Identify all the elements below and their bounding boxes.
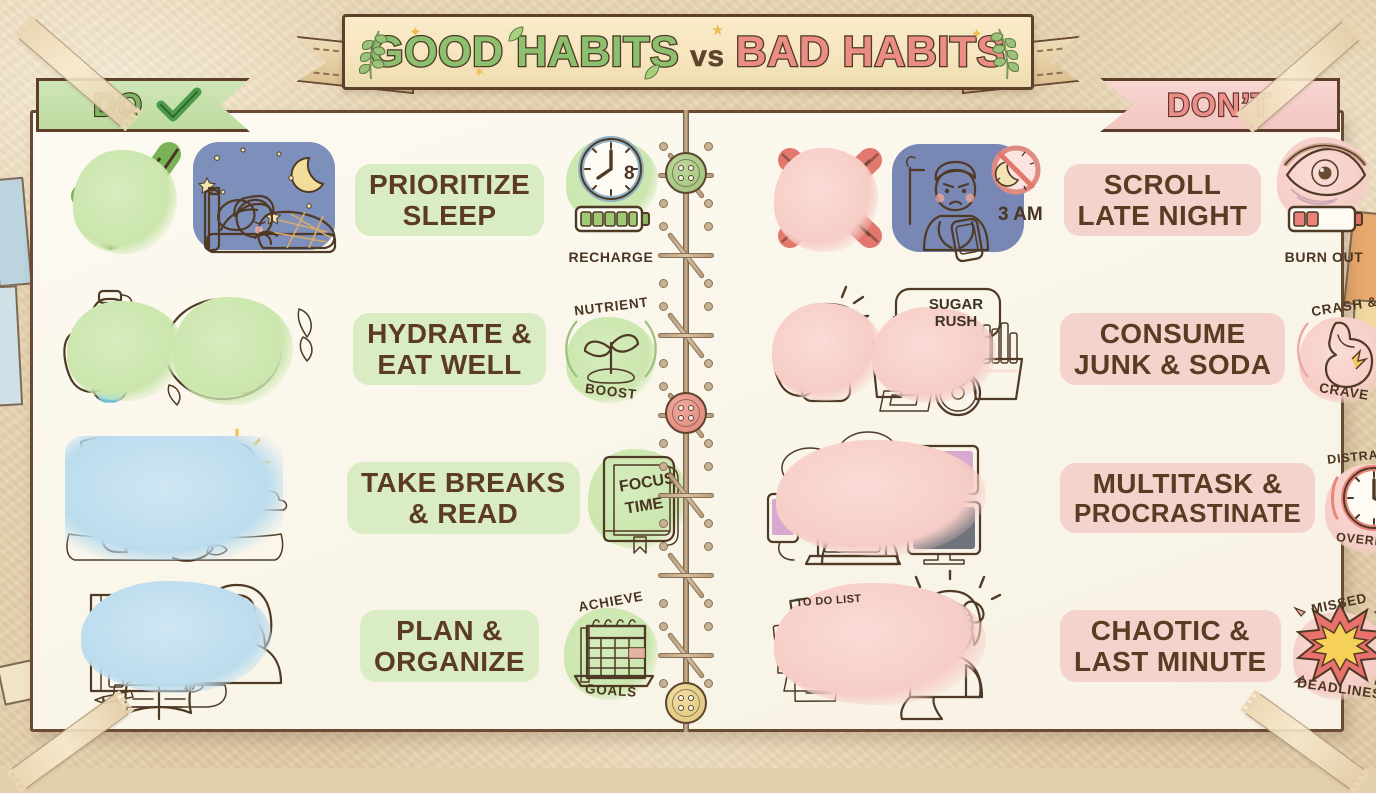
row-4-good-artwork (47, 573, 347, 719)
row-4-good-badge: ACHIEVE (552, 596, 670, 696)
row-1-bad-phrase: SCROLL LATE NIGHT (1060, 164, 1265, 237)
row-1-good-badge-caption: RECHARGE (569, 249, 654, 265)
clock-icon: 8 (581, 139, 641, 199)
row-1-bad-phrase-line-2: LATE NIGHT (1078, 200, 1248, 231)
check-icon (157, 89, 201, 121)
row-1-good-phrase: PRIORITIZE SLEEP (347, 164, 552, 237)
row-1-good: PRIORITIZE SLEEP 8 (47, 127, 670, 273)
lace-stitch (661, 458, 711, 532)
divider-button-yellow (665, 682, 707, 724)
row-2-bad-art-label-line-1: SUGAR (912, 297, 1000, 314)
full-battery-icon (576, 207, 649, 231)
row-1-bad-art-label: 3 AM (998, 204, 1043, 225)
row-4-bad-phrase-line-2: LAST MINUTE (1074, 646, 1267, 677)
row-4-good: PLAN & ORGANIZE ACHIEVE (47, 573, 670, 719)
row-3-bad-phrase-line-1: MULTITASK & (1074, 468, 1301, 499)
title-banner: ✶ ★ ✦ ✦ GOOD HABITS vs BAD HABITS (342, 14, 1034, 90)
sleeping-girl-in-bed-icon (193, 142, 335, 252)
row-1-good-phrase-line-2: SLEEP (369, 200, 530, 231)
lace-stitch (661, 618, 711, 692)
row-2-good-phrase-line-2: EAT WELL (367, 349, 532, 380)
row-1-bad-badge-caption: BURN OUT (1285, 249, 1364, 265)
lace-stitch (661, 218, 711, 292)
row-1-bad-badge: BURN OUT (1265, 135, 1376, 265)
row-4-good-phrase-line-1: PLAN & (374, 615, 525, 646)
row-1-good-artwork (47, 134, 347, 266)
row-4-bad-artwork: TO DO LIST (760, 573, 1060, 719)
title-banner-group: ✶ ★ ✦ ✦ GOOD HABITS vs BAD HABITS (296, 8, 1080, 112)
no-sleep-icon (994, 148, 1038, 192)
row-2-good-badge: NUTRIENT BOOST (552, 301, 670, 397)
row-2-bad: SUGAR RUSH CONSUME JUNK & SODA CRASH & (760, 276, 1376, 422)
low-battery-icon (1289, 207, 1362, 231)
row-1-bad: 3 AM SCROLL LATE NIGHT (760, 127, 1376, 273)
row-2-good: HYDRATE & EAT WELL NUTRIENT (47, 276, 670, 422)
row-4-bad-badge: MISSED DEADLINES (1281, 598, 1376, 694)
row-3-good-phrase: TAKE BREAKS & READ (347, 462, 580, 535)
row-3-bad-badge: DISTRACTION OVER (1315, 450, 1376, 546)
row-3-bad: MULTITASK & PROCRASTINATE DISTRACTION (760, 425, 1376, 571)
row-3-bad-phrase: MULTITASK & PROCRASTINATE (1060, 463, 1315, 533)
row-4-bad: TO DO LIST CHAOTIC & LAST MINUTE MISSED (760, 573, 1376, 719)
row-2-good-artwork (47, 283, 347, 415)
starburst-icon (1295, 604, 1376, 686)
row-4-good-phrase-line-2: ORGANIZE (374, 646, 525, 677)
title-bad-habits: BAD HABITS (736, 28, 1006, 77)
row-2-bad-artwork: SUGAR RUSH (760, 283, 1060, 415)
row-2-bad-phrase-line-2: JUNK & SODA (1074, 349, 1271, 380)
divider-button-red (665, 392, 707, 434)
alarm-clock-icon (1333, 468, 1376, 528)
row-3-bad-phrase-line-2: PROCRASTINATE (1074, 499, 1301, 528)
lace-stitch (661, 298, 711, 372)
title-text: GOOD HABITS vs BAD HABITS (370, 28, 1005, 77)
lace-stitch (661, 538, 711, 612)
row-3-good-artwork (47, 428, 347, 568)
row-3-good-phrase-line-2: & READ (361, 498, 566, 529)
clock-hour-value: 8 (624, 163, 635, 184)
do-header-ribbon: DO (36, 78, 250, 132)
row-2-bad-badge: CRASH & CRAVE (1285, 301, 1376, 397)
tired-eye-icon (1285, 146, 1365, 204)
row-1-good-phrase-line-1: PRIORITIZE (369, 169, 530, 200)
stomach-ache-icon (1326, 323, 1372, 387)
row-1-bad-artwork: 3 AM (760, 134, 1060, 266)
title-vs: vs (690, 40, 724, 74)
title-good-habits: GOOD HABITS (370, 28, 679, 77)
row-2-bad-phrase: CONSUME JUNK & SODA (1060, 313, 1285, 386)
row-1-good-badge: 8 RECHARGE (552, 135, 670, 265)
sprout-icon (585, 335, 638, 383)
row-4-good-phrase: PLAN & ORGANIZE (347, 610, 552, 683)
divider-button-green (665, 152, 707, 194)
row-2-bad-art-label-line-2: RUSH (912, 314, 1000, 331)
row-1-bad-phrase-line-1: SCROLL (1078, 169, 1248, 200)
row-2-good-phrase-line-1: HYDRATE & (367, 318, 532, 349)
row-3-good-phrase-line-1: TAKE BREAKS (361, 467, 566, 498)
row-3-good: TAKE BREAKS & READ FOCUS TIME (47, 425, 670, 571)
row-2-good-phrase: HYDRATE & EAT WELL (347, 313, 552, 386)
desk-calendar-icon (575, 620, 653, 686)
row-4-bad-phrase: CHAOTIC & LAST MINUTE (1060, 610, 1281, 683)
center-divider (657, 110, 715, 732)
row-3-bad-artwork (760, 428, 1060, 568)
row-2-bad-phrase-line-1: CONSUME (1074, 318, 1271, 349)
row-4-bad-phrase-line-1: CHAOTIC & (1074, 615, 1267, 646)
